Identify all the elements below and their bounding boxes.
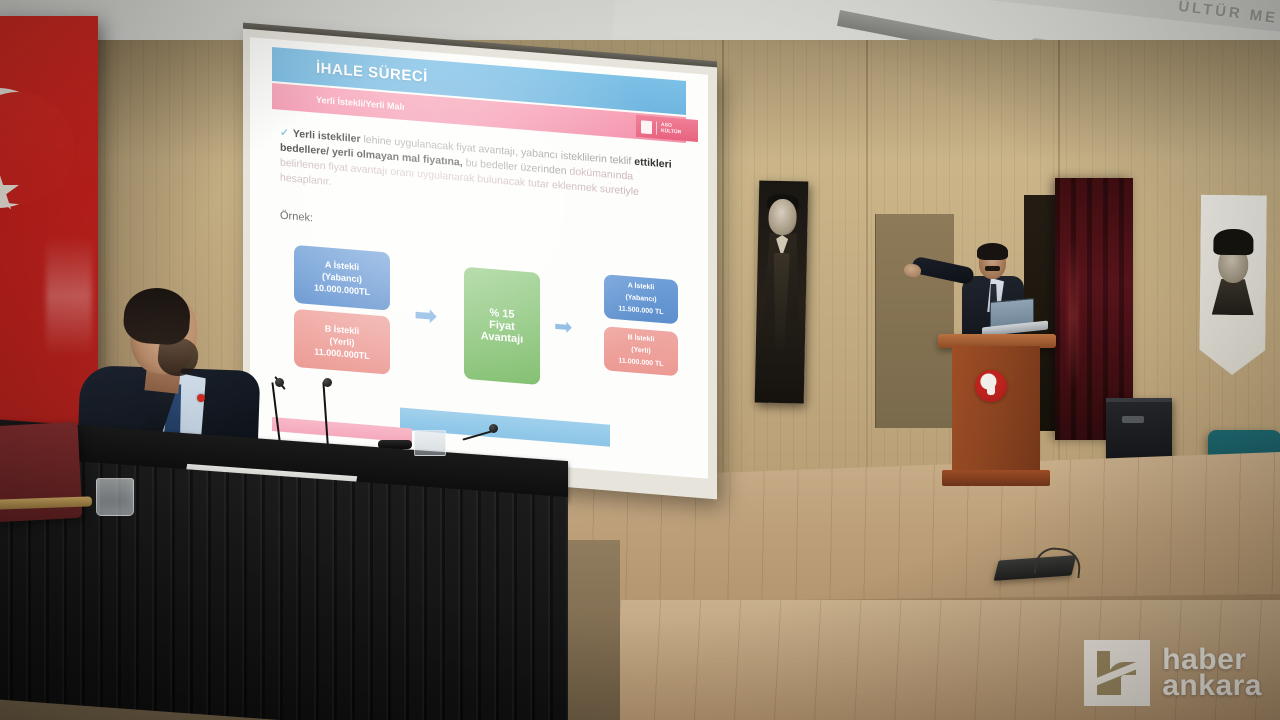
microphone-head-3 bbox=[489, 424, 498, 433]
center-line3: Avantajı bbox=[481, 330, 523, 345]
box-a-right-line3: 11.500.000 TL bbox=[618, 303, 663, 319]
dark-cabinet bbox=[1106, 398, 1172, 466]
watermark-line2: ankara bbox=[1162, 673, 1262, 699]
slide-footer-pink-bar bbox=[272, 417, 412, 442]
speaker-moustache bbox=[985, 266, 1000, 271]
door-panel bbox=[875, 214, 954, 428]
ataturk-portrait-banner bbox=[755, 181, 809, 404]
microphone-head-2 bbox=[323, 378, 332, 387]
ataturk-pennant-banner bbox=[1199, 195, 1267, 376]
head-table-skirt bbox=[0, 455, 568, 720]
curtain-highlight bbox=[1068, 240, 1078, 390]
water-glass bbox=[96, 478, 134, 516]
logo-divider bbox=[656, 121, 657, 134]
price-advantage-diagram: A İstekli (Yabancı) 10.000.000TL B İstek… bbox=[274, 237, 686, 411]
logo-mark-icon bbox=[641, 120, 652, 134]
logo-text-line2: KÜLTÜR bbox=[661, 128, 681, 136]
arrow-right-icon-2: ➡ bbox=[554, 312, 572, 342]
speaker-hair bbox=[977, 243, 1008, 260]
slide-bullet-paragraph: ✓Yerli istekliler lehine uygulanacak fiy… bbox=[280, 126, 680, 219]
water-glass-secondary bbox=[414, 430, 446, 456]
slide-title: İHALE SÜRECİ bbox=[316, 59, 428, 85]
portrait-face bbox=[768, 199, 797, 236]
diagram-box-a-left: A İstekli (Yabancı) 10.000.000TL bbox=[294, 245, 390, 311]
flag-glare bbox=[46, 236, 92, 356]
watermark: haber ankara bbox=[1084, 640, 1262, 706]
podium-base bbox=[942, 470, 1050, 486]
haber-ankara-logo-icon bbox=[1084, 640, 1150, 706]
podium-body bbox=[952, 346, 1040, 474]
microphone-head-1 bbox=[275, 378, 284, 387]
slide-subtitle: Yerli İstekli/Yerli Malı bbox=[316, 95, 405, 112]
example-label: Örnek: bbox=[280, 210, 313, 225]
seated-man-flag-pin bbox=[197, 394, 205, 402]
pennant-coat bbox=[1212, 279, 1254, 315]
arrow-right-icon: ➡ bbox=[414, 301, 437, 331]
watermark-text: haber ankara bbox=[1162, 647, 1262, 699]
pennant-kalpak-hat bbox=[1213, 229, 1253, 255]
diagram-box-b-right: B İstekli (Yerli) 11.000.000 TL bbox=[604, 326, 678, 376]
diagram-box-b-left: B İstekli (Yerli) 11.000.000TL bbox=[294, 309, 390, 375]
presentation-slide: İHALE SÜRECİ Yerli İstekli/Yerli Malı AS… bbox=[250, 37, 708, 479]
podium-emblem-icon bbox=[975, 370, 1007, 402]
box-b-right-line3: 11.000.000 TL bbox=[618, 355, 663, 371]
diagram-box-a-right: A İstekli (Yabancı) 11.500.000 TL bbox=[604, 274, 678, 324]
conference-hall-photo: ÜLTÜR ME İHALE SÜRECİ bbox=[0, 0, 1280, 720]
box-b-left-line3: 11.000.000TL bbox=[314, 345, 370, 362]
diagram-box-center: % 15 Fiyat Avantajı bbox=[464, 267, 540, 385]
checkmark-icon: ✓ bbox=[280, 127, 289, 140]
